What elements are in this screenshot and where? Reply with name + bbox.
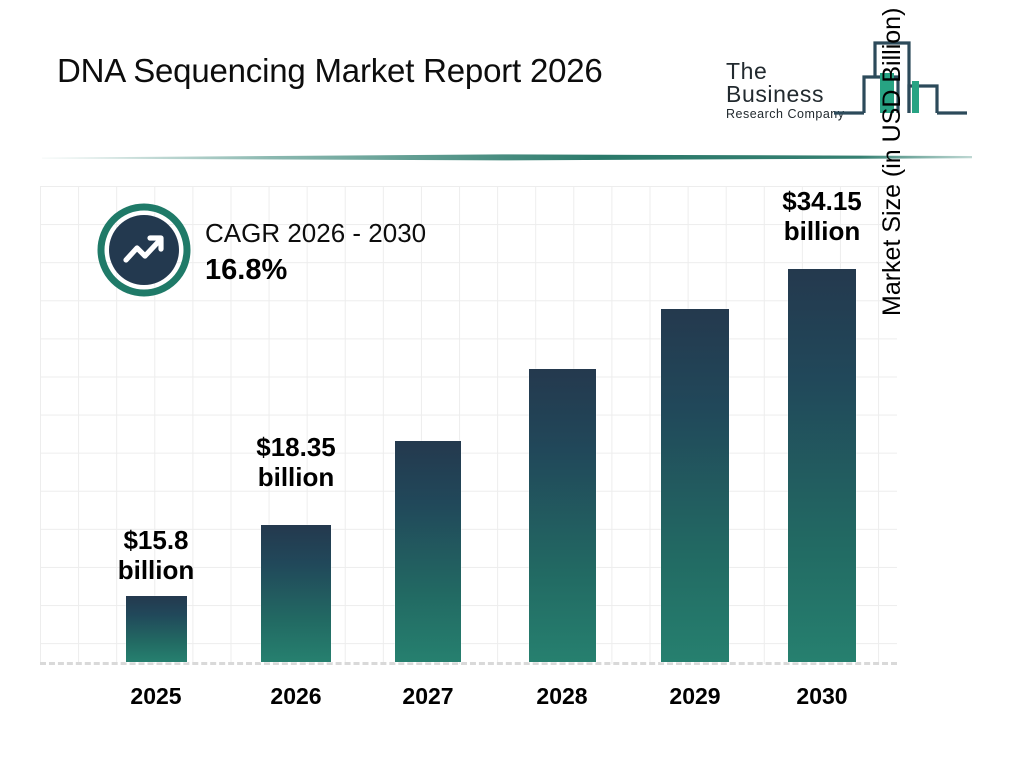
- cagr-callout-text: CAGR 2026 - 2030 16.8%: [205, 218, 426, 287]
- cagr-period-label: CAGR 2026 - 2030: [205, 218, 426, 249]
- x-tick-2026: 2026: [236, 683, 356, 710]
- value-unit: billion: [206, 462, 386, 492]
- page-title: DNA Sequencing Market Report 2026: [57, 52, 603, 90]
- chart-baseline: [40, 662, 897, 665]
- cagr-badge-icon: [96, 202, 192, 298]
- company-logo: The Business Research Company: [726, 33, 976, 123]
- value-amount: $15.8: [66, 525, 246, 555]
- value-label-2025: $15.8 billion: [66, 525, 246, 586]
- value-amount: $18.35: [206, 432, 386, 462]
- header-divider: [42, 152, 972, 164]
- value-unit: billion: [66, 555, 246, 585]
- header: DNA Sequencing Market Report 2026 The Bu…: [0, 0, 1024, 150]
- bar-2026: [261, 525, 331, 662]
- value-label-2026: $18.35 billion: [206, 432, 386, 493]
- bar-2025: [126, 596, 187, 662]
- bar-2028: [529, 369, 596, 662]
- y-axis-title: Market Size (in USD Billion): [878, 0, 907, 316]
- cagr-value-label: 16.8%: [205, 255, 426, 287]
- x-tick-2028: 2028: [502, 683, 622, 710]
- bar-2027: [395, 441, 461, 662]
- x-tick-2025: 2025: [96, 683, 216, 710]
- x-tick-2029: 2029: [635, 683, 755, 710]
- x-tick-2027: 2027: [368, 683, 488, 710]
- bar-2030: [788, 269, 856, 662]
- bar-2029: [661, 309, 729, 662]
- x-tick-2030: 2030: [762, 683, 882, 710]
